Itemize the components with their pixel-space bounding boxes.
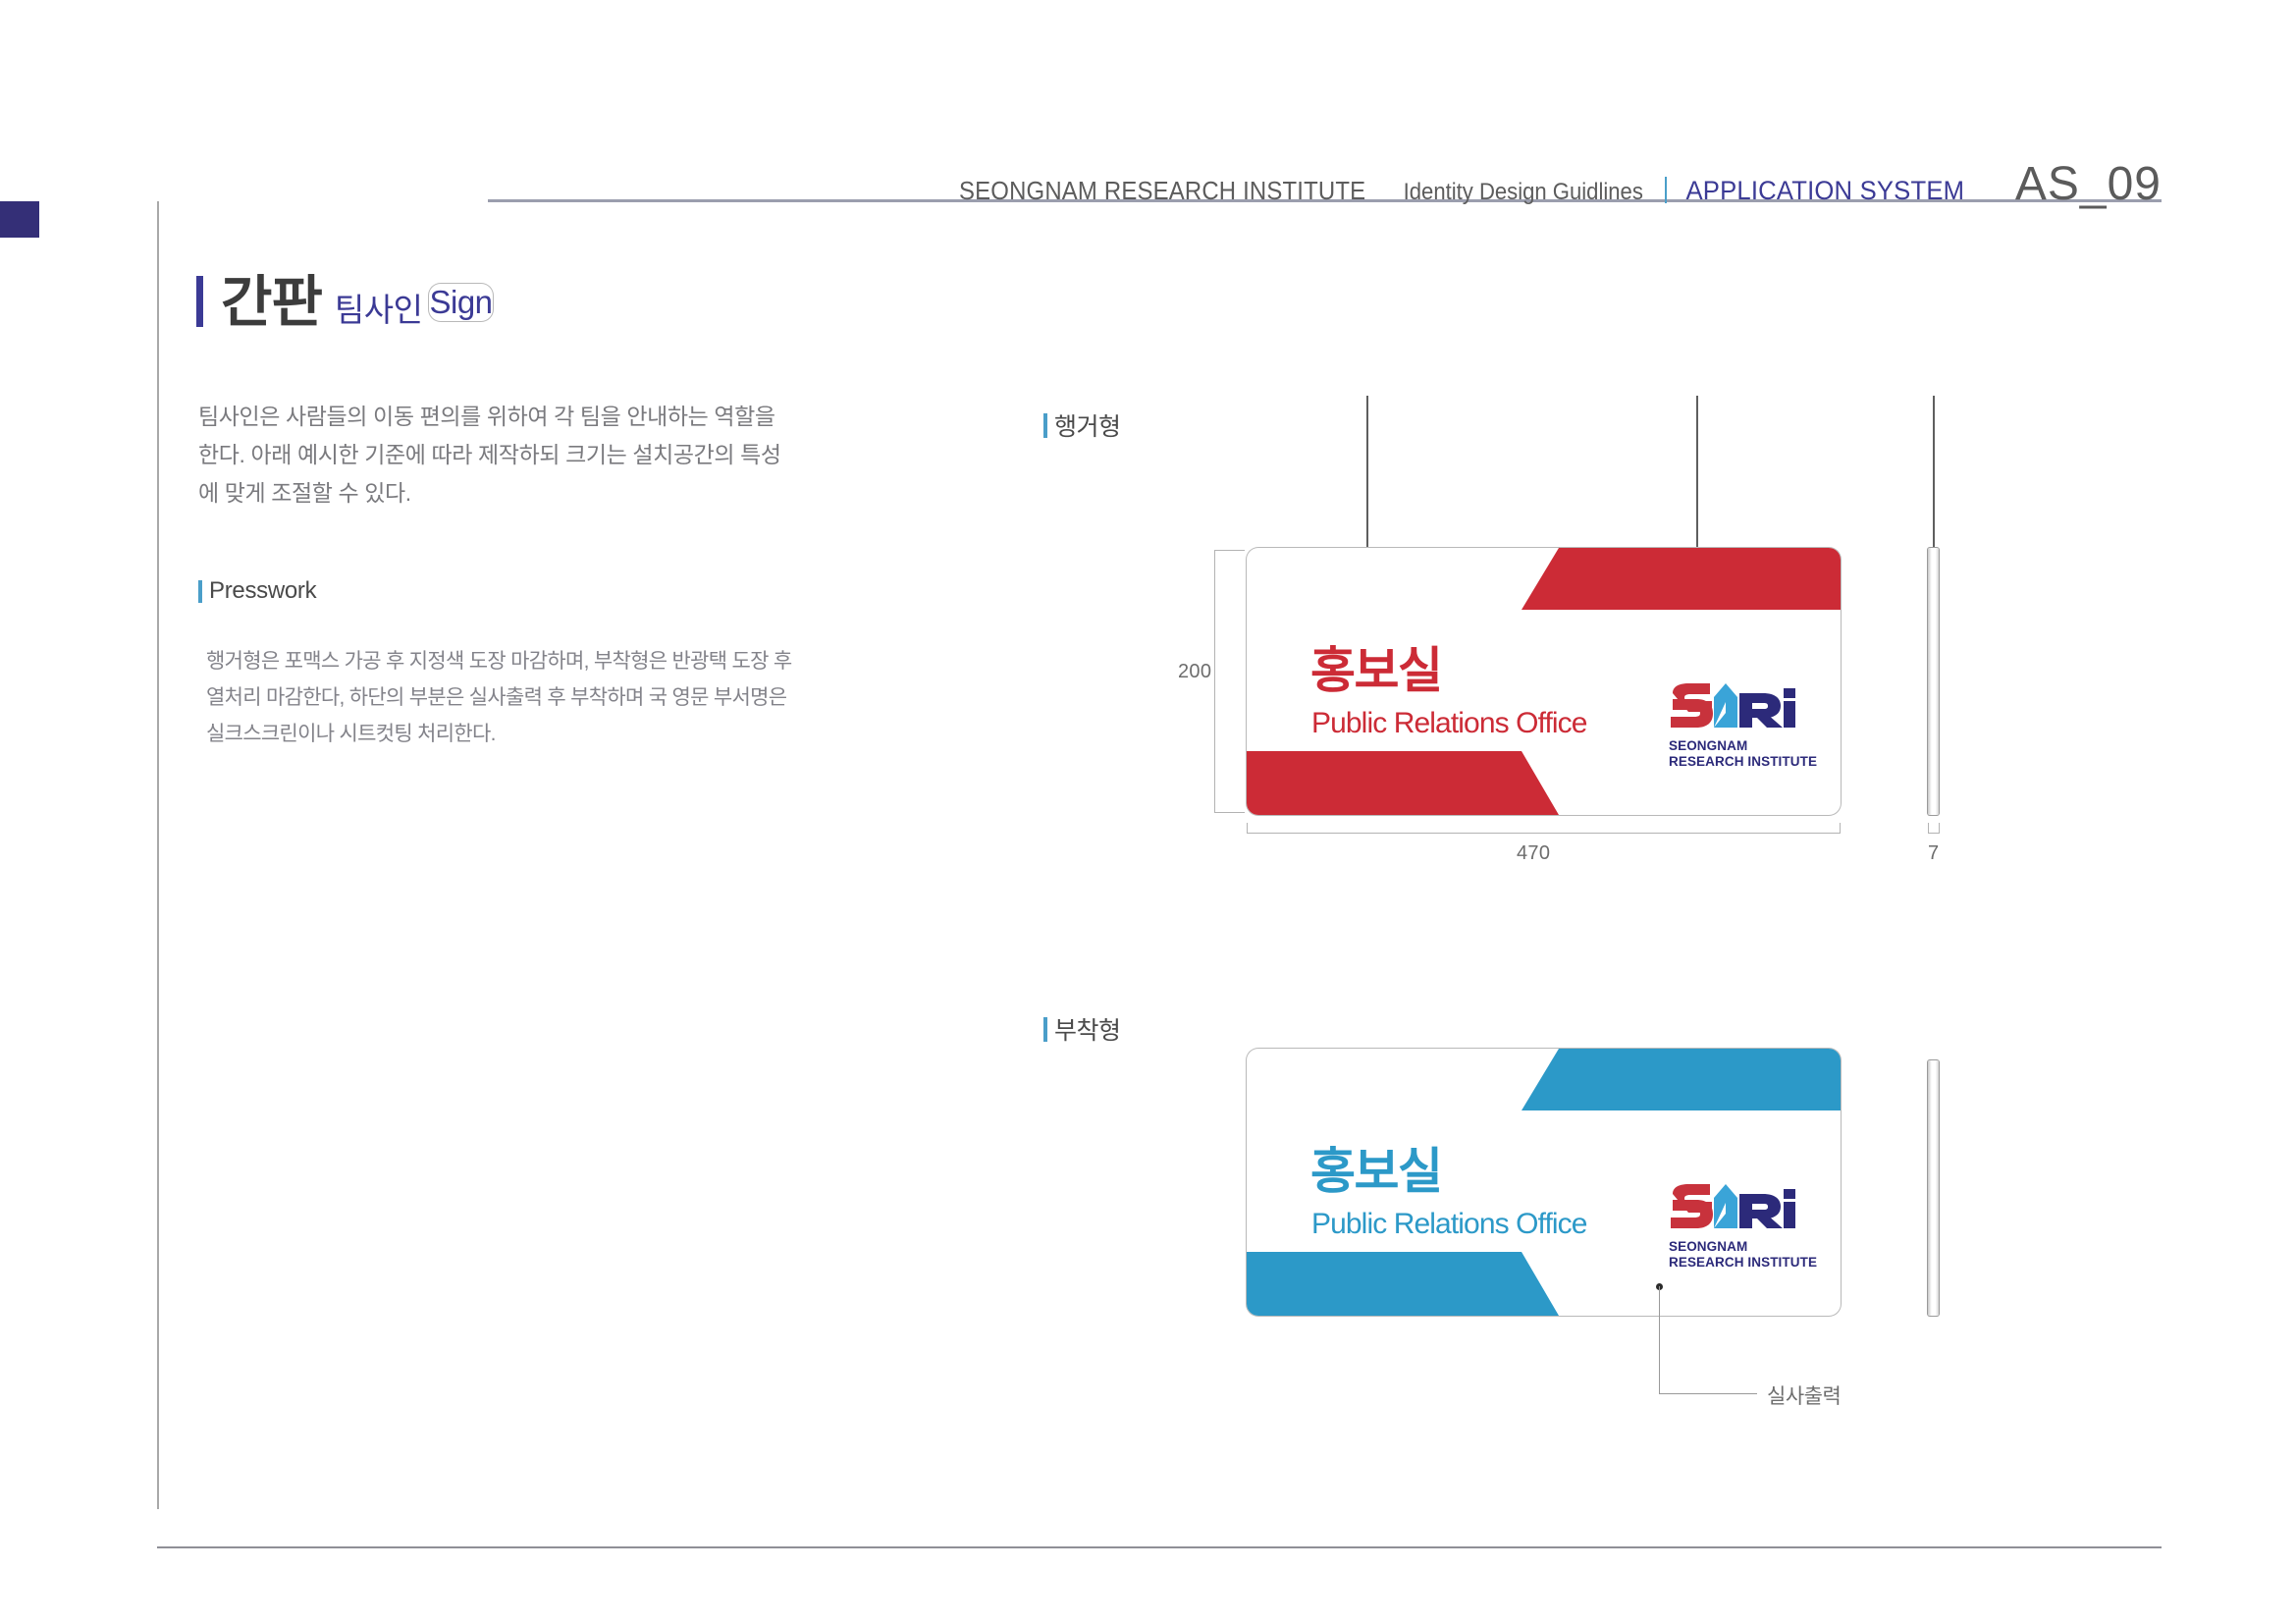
footer-rule — [157, 1546, 2162, 1548]
dim-thickness-horizontal — [1928, 833, 1940, 834]
side-profile-hanger — [1928, 548, 1939, 815]
sign-surface: 홍보실 Public Relations Office SEONGNAM RES… — [1247, 1049, 1841, 1316]
section-accent-bar — [1043, 1017, 1047, 1042]
title-subtitle-en: Sign — [429, 284, 492, 321]
logo-line-2: RESEARCH INSTITUTE — [1669, 754, 1817, 769]
dim-height-vertical — [1214, 550, 1215, 813]
sign-title-korean: 홍보실 — [1310, 631, 1442, 702]
title-korean: 간판 — [221, 257, 322, 338]
header-section: APPLICATION SYSTEM — [1686, 176, 1965, 206]
title-subtitle: 팀사인Sign — [335, 284, 423, 331]
title-subtitle-ko: 팀사인 — [335, 292, 423, 328]
sign-title-korean: 홍보실 — [1310, 1132, 1442, 1203]
section-label-wall: 부착형 — [1043, 1011, 1121, 1047]
section-label-wall-text: 부착형 — [1054, 1011, 1121, 1047]
snri-logo-wordmark: SEONGNAM RESEARCH INSTITUTE — [1669, 1239, 1817, 1270]
dim-width-horizontal — [1247, 833, 1841, 834]
header-guidelines: Identity Design Guidlines — [1403, 179, 1642, 206]
logo-line-1: SEONGNAM — [1669, 738, 1747, 753]
dim-width-label: 470 — [1517, 842, 1550, 865]
dim-width-left-tick — [1247, 823, 1248, 834]
dim-height-label: 200 — [1178, 661, 1211, 683]
callout-label: 실사출력 — [1767, 1380, 1841, 1410]
sign-surface: 홍보실 Public Relations Office — [1247, 548, 1841, 815]
sign-title-english: Public Relations Office — [1311, 1208, 1587, 1241]
presswork-body: 행거형은 포맥스 가공 후 지정색 도장 마감하며, 부착형은 반광택 도장 후… — [206, 643, 800, 752]
dim-height-bottom-tick — [1214, 812, 1245, 813]
page-title: 간판 팀사인Sign — [196, 257, 422, 338]
header-divider-icon — [1665, 177, 1667, 203]
dim-thickness-label: 7 — [1928, 842, 1939, 865]
snri-logo-wall: SEONGNAM RESEARCH INSTITUTE — [1669, 1184, 1796, 1274]
callout-line-horizontal — [1659, 1393, 1757, 1394]
presswork-accent-bar — [198, 580, 202, 603]
logo-line-2: RESEARCH INSTITUTE — [1669, 1255, 1817, 1270]
section-label-hanger: 행거형 — [1043, 407, 1121, 443]
presswork-label: Presswork — [209, 577, 316, 605]
section-label-hanger-text: 행거형 — [1054, 407, 1121, 443]
callout-line-vertical — [1659, 1286, 1660, 1394]
title-accent-bar — [196, 276, 203, 327]
logo-line-1: SEONGNAM — [1669, 1239, 1747, 1254]
header-institute: SEONGNAM RESEARCH INSTITUTE — [959, 176, 1365, 206]
side-profile-wire — [1933, 396, 1935, 548]
snri-logo-mark — [1669, 1184, 1796, 1239]
edge-tab-marker — [0, 201, 39, 238]
snri-logo-wordmark: SEONGNAM RESEARCH INSTITUTE — [1669, 738, 1817, 769]
page-code: AS_09 — [2015, 157, 2162, 211]
sign-title-english: Public Relations Office — [1311, 707, 1587, 740]
presswork-heading: Presswork — [198, 577, 316, 605]
intro-paragraph: 팀사인은 사람들의 이동 편의를 위하여 각 팀을 안내하는 역할을 한다. 아… — [198, 398, 792, 513]
sign-board-wall: 홍보실 Public Relations Office SEONGNAM RES… — [1247, 1049, 1841, 1316]
section-accent-bar — [1043, 413, 1047, 438]
hanging-wire-left — [1366, 396, 1368, 553]
snri-logo-mark — [1669, 683, 1796, 738]
dim-height-top-tick — [1214, 550, 1245, 551]
side-profile-wall — [1928, 1060, 1939, 1316]
snri-logo-hanger: SEONGNAM RESEARCH INSTITUTE — [1669, 683, 1796, 774]
guideline-page: SEONGNAM RESEARCH INSTITUTE Identity Des… — [0, 0, 2296, 1624]
hanging-wire-right — [1696, 396, 1698, 553]
sign-board-hanger: 홍보실 Public Relations Office — [1247, 548, 1841, 815]
header: SEONGNAM RESEARCH INSTITUTE Identity Des… — [941, 157, 2162, 211]
left-vertical-rule — [157, 201, 159, 1509]
dim-width-right-tick — [1840, 823, 1841, 834]
